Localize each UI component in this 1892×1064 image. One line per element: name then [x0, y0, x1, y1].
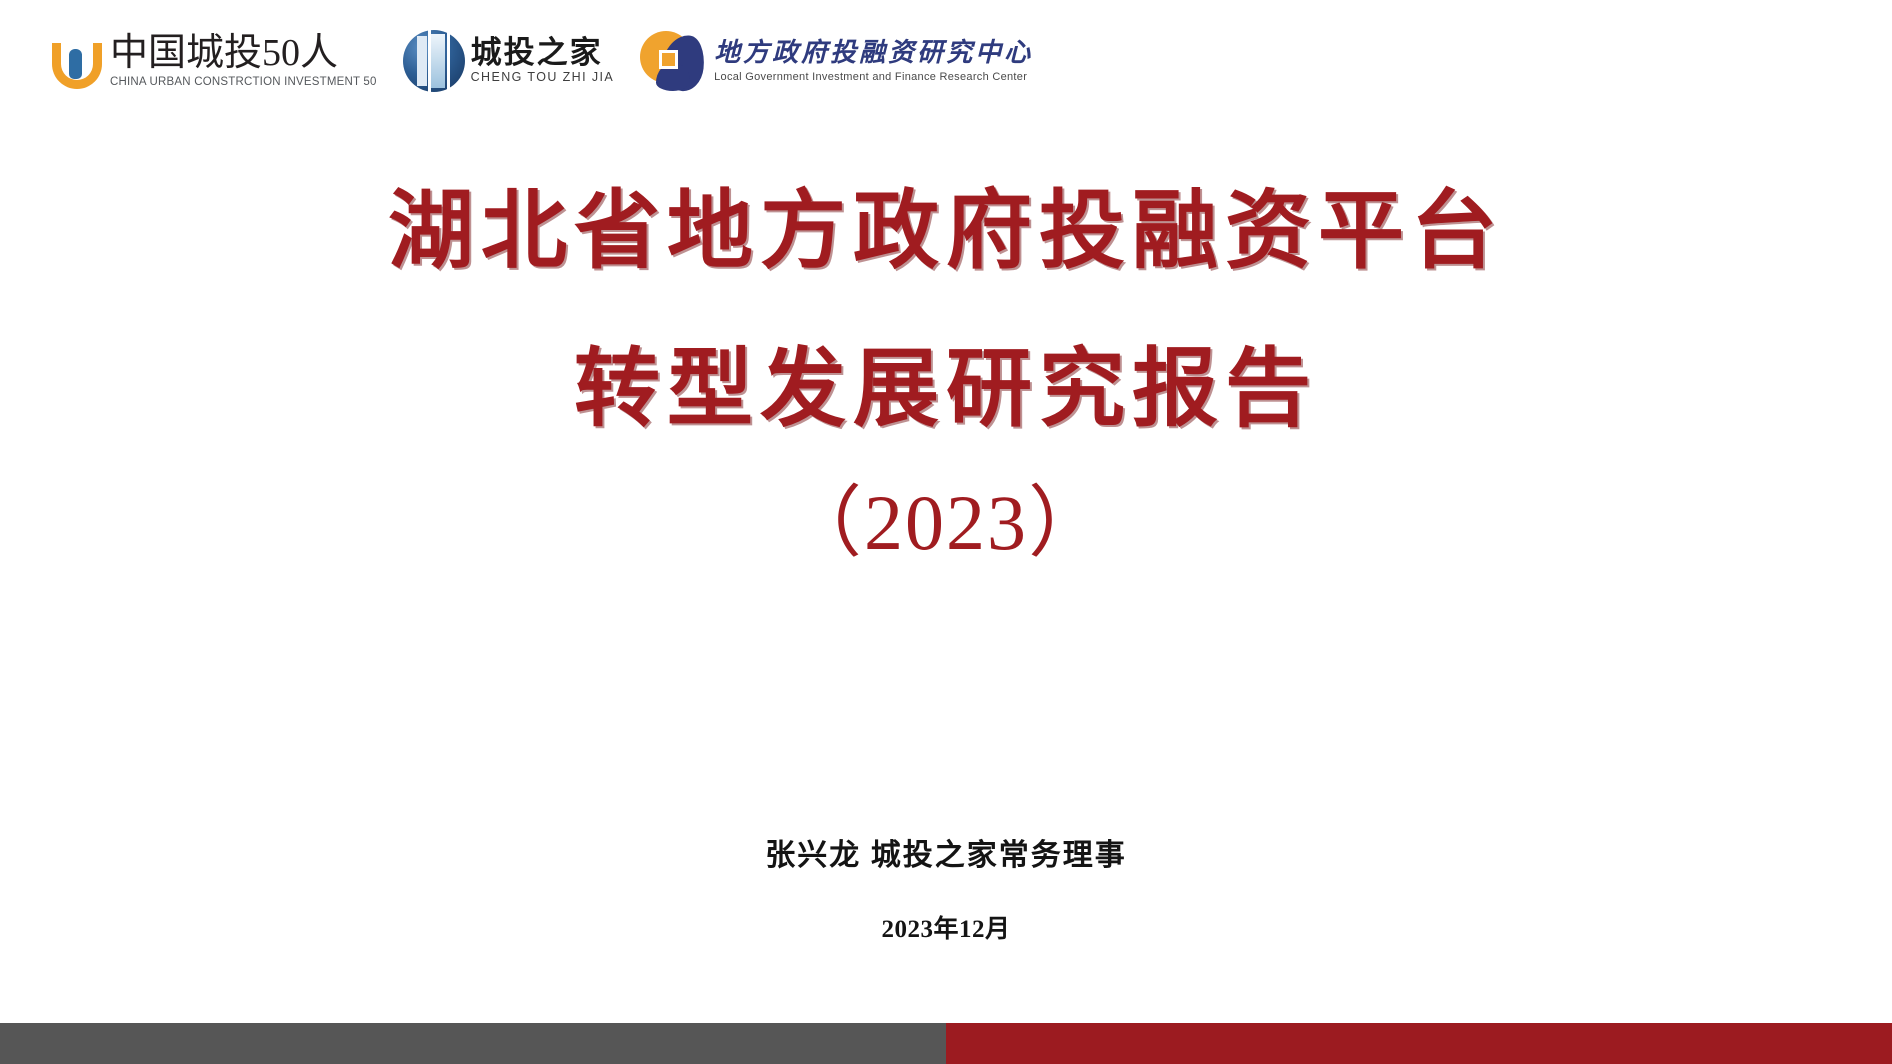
title-year: （2023）: [0, 484, 1892, 562]
date-line: 2023年12月: [0, 915, 1892, 945]
title-line-1: 湖北省地方政府投融资平台: [0, 188, 1892, 274]
page-title: 湖北省地方政府投融资平台 转型发展研究报告 （2023）: [0, 188, 1892, 562]
title-slide: 中国城投50人 CHINA URBAN CONSTRCTION INVESTME…: [0, 0, 1892, 1064]
logo2-english-name: CHENG TOU ZHI JIA: [471, 71, 615, 85]
u-shape-orange-blue-icon: [48, 31, 108, 91]
author-line: 张兴龙 城投之家常务理事: [0, 838, 1892, 874]
logo3-english-name: Local Government Investment and Finance …: [714, 71, 1033, 83]
logo-bar: 中国城投50人 CHINA URBAN CONSTRCTION INVESTME…: [48, 22, 1033, 100]
logo1-english-name: CHINA URBAN CONSTRCTION INVESTMENT 50: [110, 76, 377, 89]
title-line-2: 转型发展研究报告: [0, 346, 1892, 432]
logo-local-government-investment-finance-research-center: 地方政府投融资研究中心 Local Government Investment …: [640, 22, 1033, 100]
logo1-chinese-name: 中国城投50人: [110, 34, 377, 74]
logo3-chinese-name: 地方政府投融资研究中心: [714, 39, 1033, 68]
orange-circle-navy-hand-icon: [640, 29, 706, 93]
logo2-chinese-name: 城投之家: [471, 37, 615, 70]
footer-bar: [0, 1023, 1892, 1064]
footer-bar-left-gray: [0, 1023, 946, 1064]
logo-china-urban-construction-investment-50: 中国城投50人 CHINA URBAN CONSTRCTION INVESTME…: [48, 22, 377, 100]
blue-circle-pillars-icon: [403, 30, 465, 92]
footer-bar-right-red: [946, 1023, 1892, 1064]
logo-cheng-tou-zhi-jia: 城投之家 CHENG TOU ZHI JIA: [403, 22, 615, 100]
